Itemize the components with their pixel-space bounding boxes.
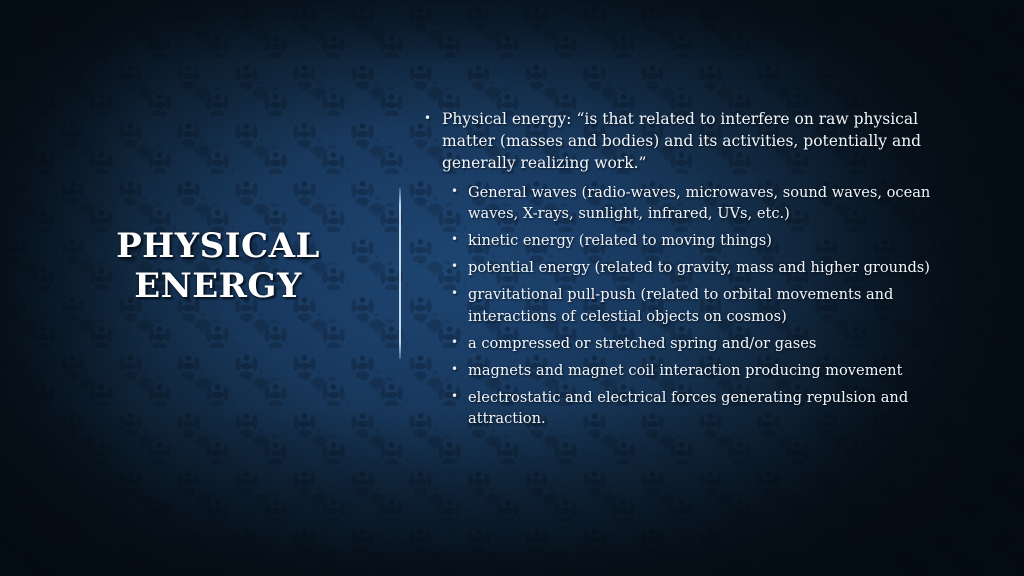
bullet-list-level-2: • General waves (radio-waves, microwaves… <box>424 182 954 430</box>
slide-content: Physical Energy • Physical energy: “is t… <box>0 0 1024 576</box>
list-item: • potential energy (related to gravity, … <box>451 257 954 278</box>
list-item-text: a compressed or stretched spring and/or … <box>468 333 954 354</box>
bullet-marker-icon: • <box>451 229 458 250</box>
title-body-divider <box>399 188 401 359</box>
bullet-marker-icon: • <box>451 332 458 353</box>
bullet-marker-icon: • <box>451 359 458 380</box>
list-item-text: kinetic energy (related to moving things… <box>468 230 954 251</box>
bullet-marker-icon: • <box>451 256 458 277</box>
list-item-text: potential energy (related to gravity, ma… <box>468 257 954 278</box>
list-item: • kinetic energy (related to moving thin… <box>451 230 954 251</box>
list-item-text: gravitational pull-push (related to orbi… <box>468 284 954 326</box>
page-title: Physical Energy <box>60 226 376 306</box>
list-item-text: Physical energy: “is that related to int… <box>442 108 954 175</box>
list-item: • magnets and magnet coil interaction pr… <box>451 360 954 381</box>
slide-body: • Physical energy: “is that related to i… <box>424 108 954 436</box>
list-item: • electrostatic and electrical forces ge… <box>451 387 954 429</box>
list-item: • a compressed or stretched spring and/o… <box>451 333 954 354</box>
bullet-marker-icon: • <box>451 181 458 202</box>
bullet-marker-icon: • <box>424 107 431 129</box>
list-item-text: magnets and magnet coil interaction prod… <box>468 360 954 381</box>
list-item: • Physical energy: “is that related to i… <box>424 108 954 175</box>
list-item-text: General waves (radio-waves, microwaves, … <box>468 182 954 224</box>
presentation-slide: Physical Energy • Physical energy: “is t… <box>0 0 1024 576</box>
list-item: • General waves (radio-waves, microwaves… <box>451 182 954 224</box>
list-item: • gravitational pull-push (related to or… <box>451 284 954 326</box>
list-item-text: electrostatic and electrical forces gene… <box>468 387 954 429</box>
bullet-marker-icon: • <box>451 283 458 304</box>
bullet-list-level-1: • Physical energy: “is that related to i… <box>424 108 954 430</box>
bullet-marker-icon: • <box>451 386 458 407</box>
